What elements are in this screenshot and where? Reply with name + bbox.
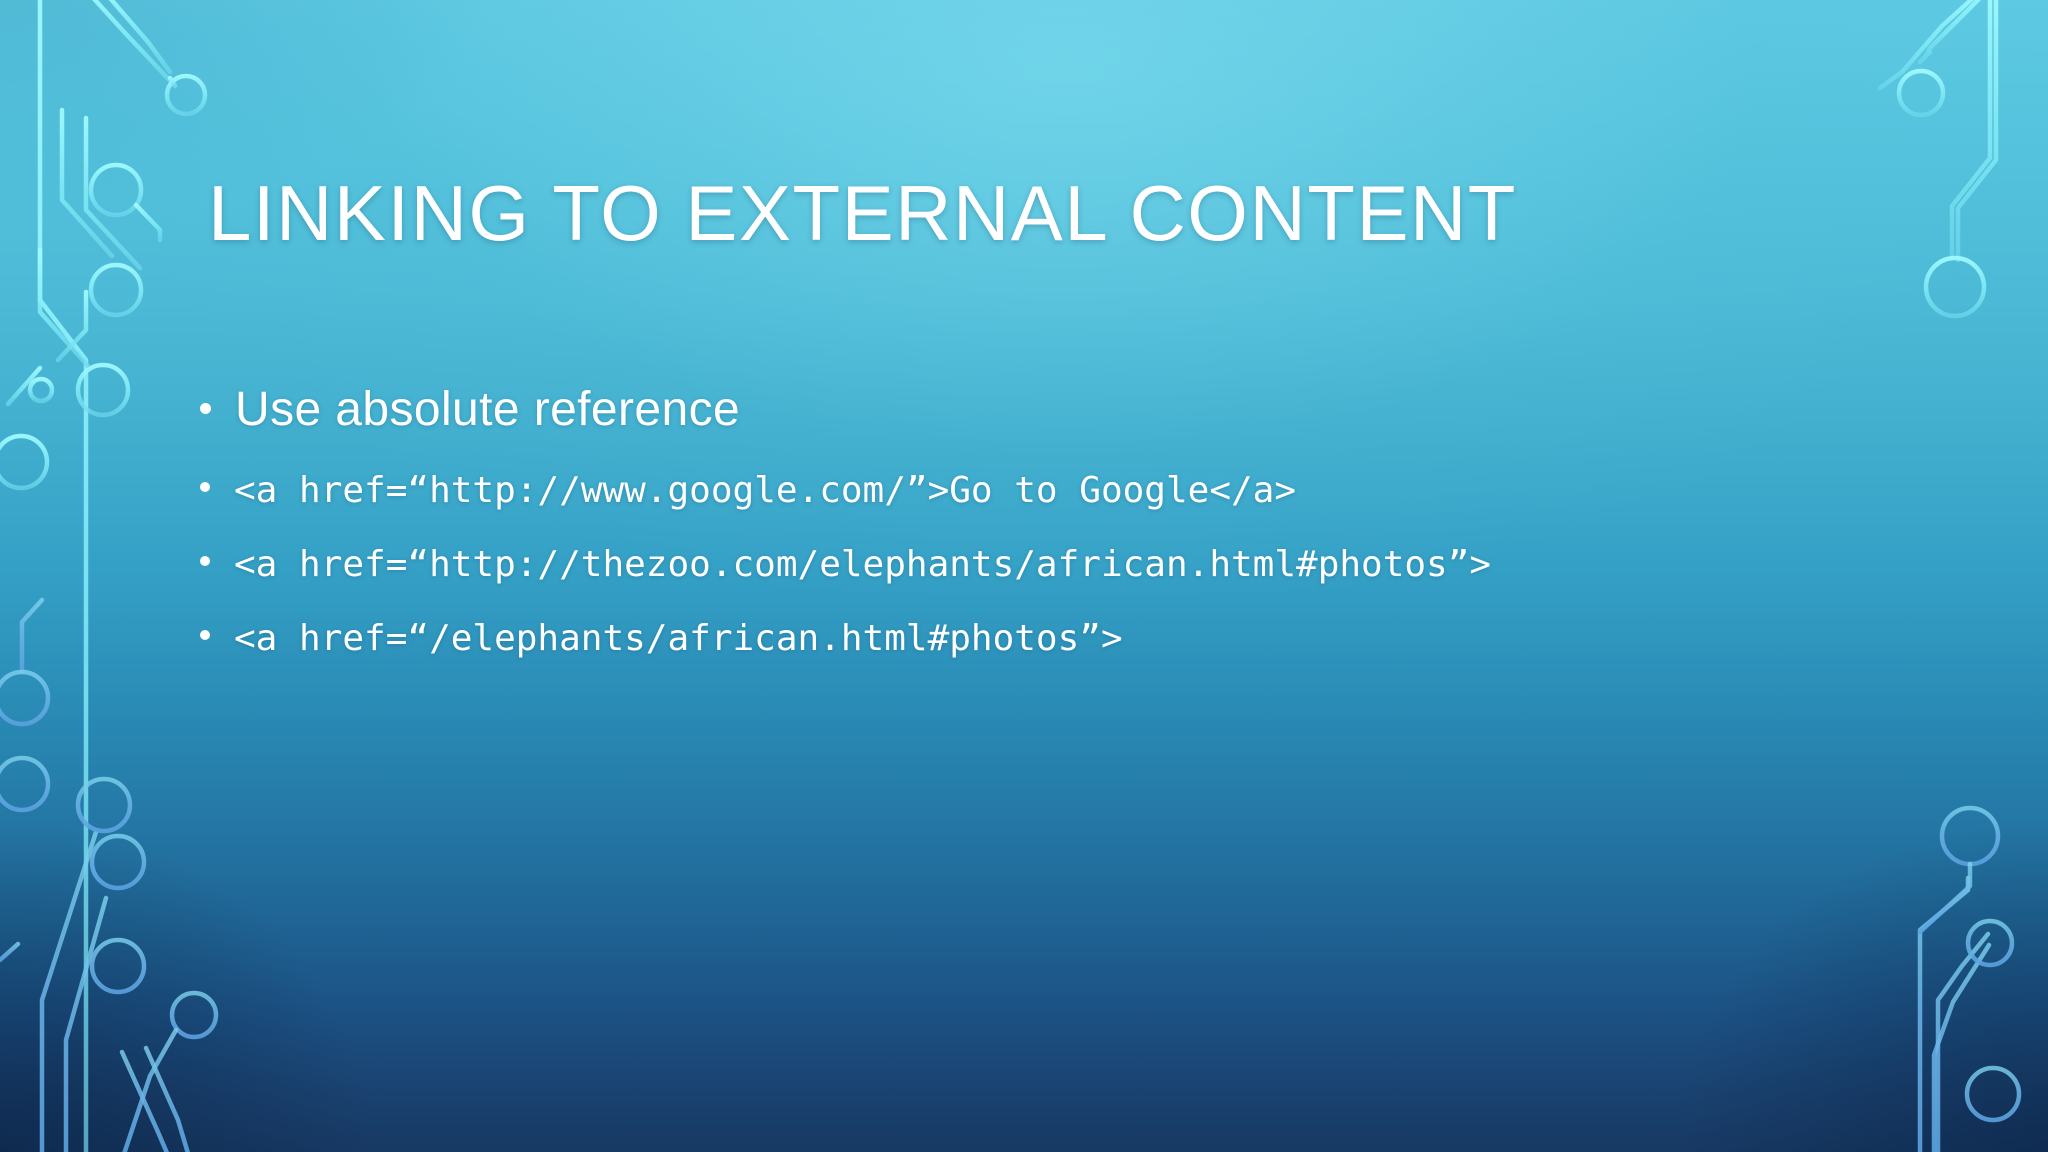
slide-content: Linking to external content Use absolute…	[0, 0, 2048, 1152]
bullet-text: <a href=“/elephants/african.html#photos”…	[234, 610, 1123, 668]
slide-bullet-list: Use absolute reference<a href=“http://ww…	[200, 380, 1900, 684]
bullet-text: <a href=“http://thezoo.com/elephants/afr…	[234, 536, 1491, 594]
bullet-item-level-2: <a href=“/elephants/african.html#photos”…	[200, 610, 1900, 668]
bullet-item-level-2: <a href=“http://thezoo.com/elephants/afr…	[200, 536, 1900, 594]
bullet-dot-icon	[200, 630, 210, 640]
bullet-text: <a href=“http://www.google.com/”>Go to G…	[234, 462, 1296, 520]
slide-title: Linking to external content	[208, 166, 1768, 260]
bullet-dot-icon	[200, 403, 211, 414]
bullet-text: Use absolute reference	[235, 380, 740, 440]
bullet-dot-icon	[200, 556, 210, 566]
presentation-slide: Linking to external content Use absolute…	[0, 0, 2048, 1152]
bullet-dot-icon	[200, 482, 210, 492]
bullet-item-level-2: <a href=“http://www.google.com/”>Go to G…	[200, 462, 1900, 520]
bullet-item-level-1: Use absolute reference	[200, 380, 1900, 440]
